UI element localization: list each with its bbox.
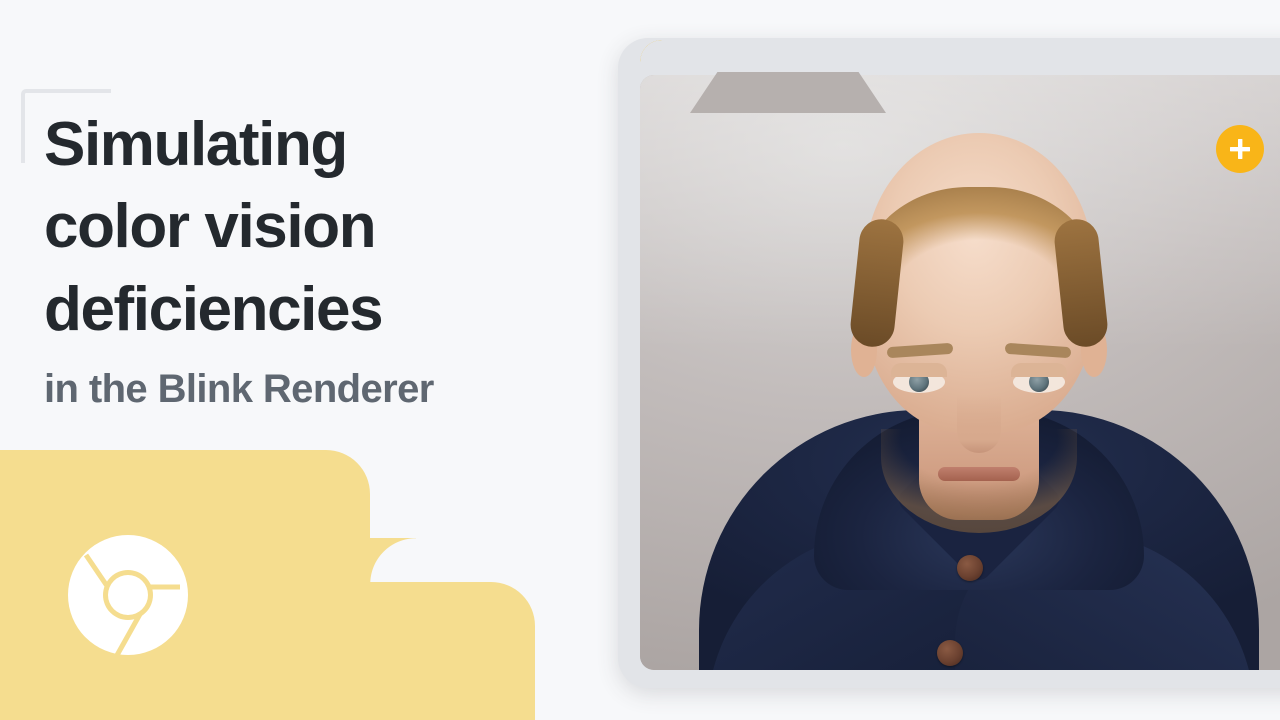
chrome-logo — [66, 533, 190, 657]
thumbnail-canvas: Simulating color vision deficiencies in … — [0, 0, 1280, 720]
folder-tab-notch — [690, 72, 886, 113]
eyebrow-left — [887, 343, 954, 359]
eyelid-right — [1011, 363, 1067, 377]
add-button[interactable] — [1216, 125, 1264, 173]
video-folder-card[interactable] — [618, 38, 1280, 688]
hoodie-button-lower — [937, 640, 963, 666]
page-title: Simulating color vision deficiencies — [44, 104, 584, 351]
eyelid-left — [891, 363, 947, 377]
folder-fillet-shape — [370, 538, 416, 584]
hoodie-button-upper — [957, 555, 983, 581]
speaker-video[interactable] — [640, 75, 1280, 670]
mouth — [938, 467, 1020, 481]
nose — [957, 395, 1001, 453]
page-subtitle: in the Blink Renderer — [44, 365, 584, 413]
eyebrow-right — [1005, 343, 1072, 359]
video-scene — [640, 75, 1280, 670]
plus-icon — [1227, 136, 1253, 162]
presenter-head — [865, 133, 1093, 433]
title-block: Simulating color vision deficiencies in … — [44, 104, 584, 413]
left-panel: Simulating color vision deficiencies in … — [0, 0, 620, 720]
